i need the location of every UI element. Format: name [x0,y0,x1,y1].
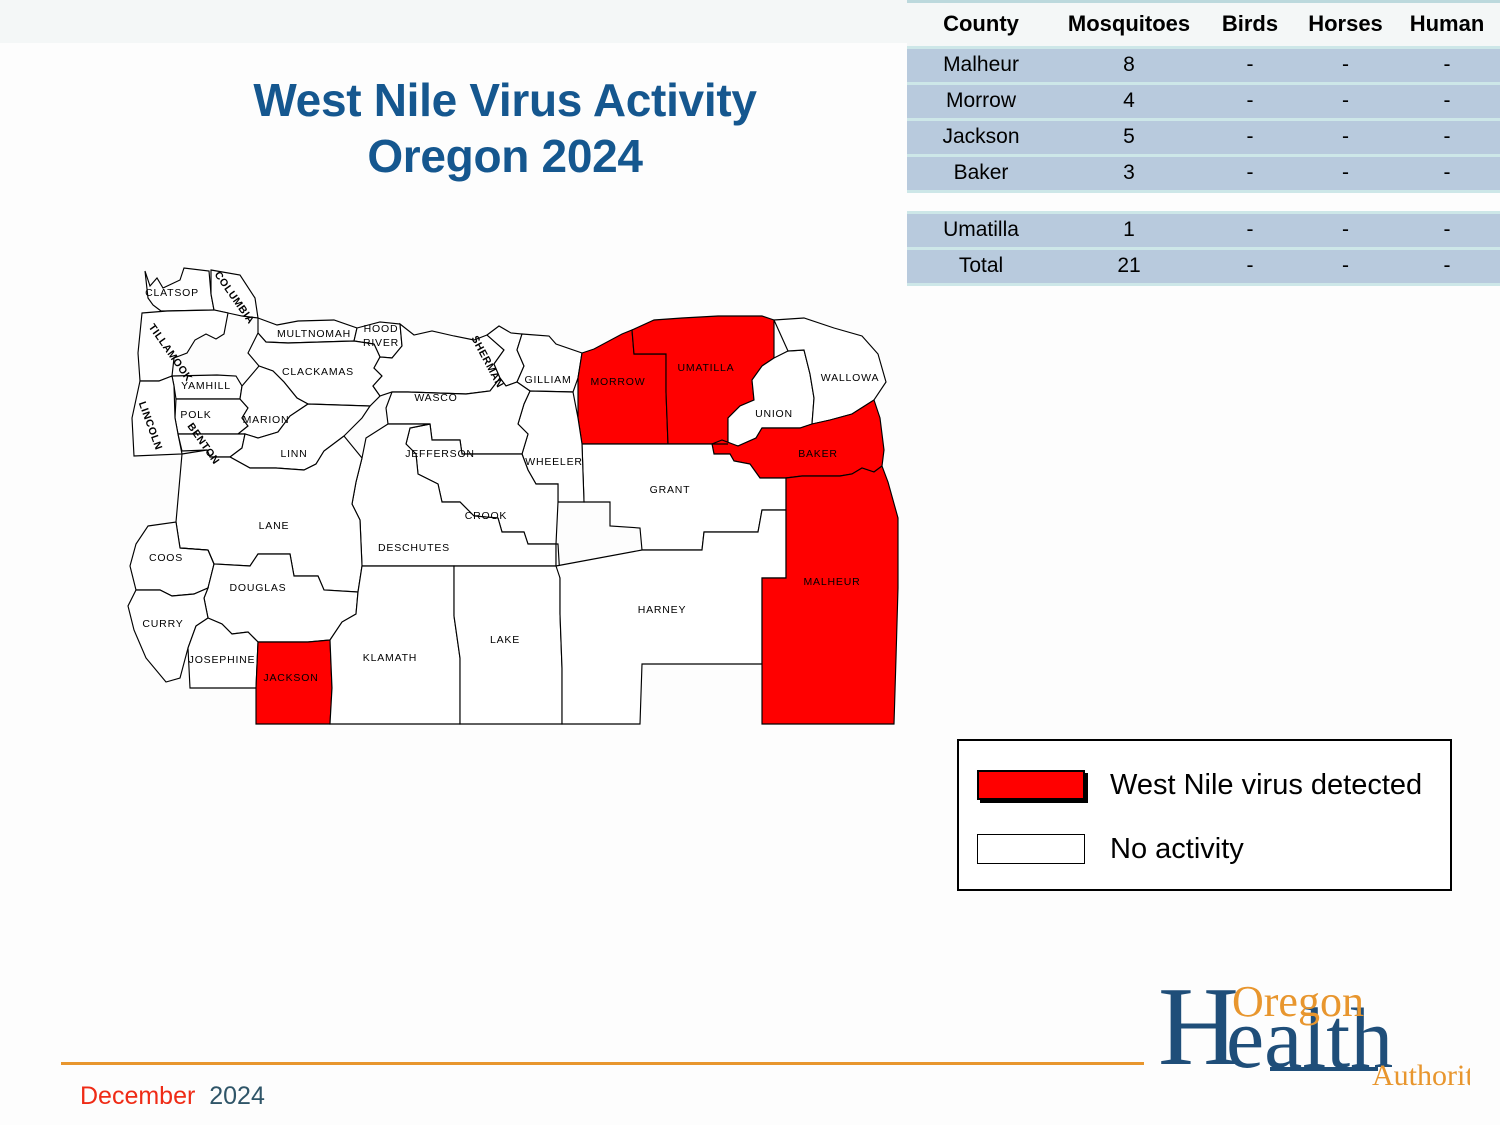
logo-text-authority: Authority [1372,1059,1470,1090]
county-label-klamath: KLAMATH [363,652,417,664]
county-label-gilliam: GILLIAM [524,374,571,386]
cell-birds: - [1203,120,1297,156]
county-label-clackamas: CLACKAMAS [282,366,354,378]
county-label-hood-river-2: RIVER [363,337,399,349]
county-label-harney: HARNEY [638,604,687,616]
table-total-row: Total 21 - - - [907,249,1500,285]
page-title: West Nile Virus Activity Oregon 2024 [150,72,860,184]
cell-human: - [1394,249,1500,285]
logo-underline [1270,1067,1378,1071]
county-label-lake: LAKE [490,634,520,646]
table-row: Umatilla 1 - - - [907,213,1500,249]
county-label-malheur: MALHEUR [804,576,861,588]
cell-mosquitoes: 1 [1055,213,1203,249]
oregon-health-authority-logo: H ealth Oregon Authority [1160,968,1470,1090]
cell-horses: - [1297,84,1394,120]
legend-row-detected: West Nile virus detected [959,761,1450,809]
cell-mosquitoes: 8 [1055,48,1203,84]
county-label-douglas: DOUGLAS [230,582,287,594]
county-label-lane: LANE [259,520,290,532]
legend-swatch-detected [977,770,1085,800]
cell-mosquitoes: 5 [1055,120,1203,156]
cell-birds: - [1203,213,1297,249]
page-title-line-2: Oregon 2024 [150,128,860,184]
county-label-multnomah: MULTNOMAH [277,328,351,340]
county-label-umatilla: UMATILLA [678,362,735,374]
cell-county: Malheur [907,48,1055,84]
table-row: Morrow 4 - - - [907,84,1500,120]
table-row: Jackson 5 - - - [907,120,1500,156]
col-header-county: County [907,2,1055,48]
cell-horses: - [1297,156,1394,192]
cell-horses: - [1297,48,1394,84]
table-header: County Mosquitoes Birds Horses Human [907,2,1500,48]
cell-human: - [1394,156,1500,192]
footer-rule [61,1062,1144,1065]
county-label-clatsop: CLATSOP [145,287,199,299]
oregon-county-map: CLATSOP COLUMBIA TILLAMOOK MULTNOMAH HOO… [62,258,942,948]
logo-text-oregon: Oregon [1232,977,1364,1026]
county-label-hood-river-1: HOOD [364,323,399,335]
county-label-josephine: JOSEPHINE [189,654,256,666]
county-label-wallowa: WALLOWA [821,372,880,384]
county-label-wasco: WASCO [414,392,457,404]
footer-month: December [80,1082,195,1110]
cell-mosquitoes: 21 [1055,249,1203,285]
cell-county: Baker [907,156,1055,192]
table-spacer [907,192,1500,213]
col-header-horses: Horses [1297,2,1394,48]
cell-horses: - [1297,213,1394,249]
cell-human: - [1394,84,1500,120]
cell-human: - [1394,120,1500,156]
cell-birds: - [1203,249,1297,285]
county-label-baker: BAKER [798,448,838,460]
cell-mosquitoes: 3 [1055,156,1203,192]
legend-label-detected: West Nile virus detected [1110,769,1422,802]
map-legend: West Nile virus detected No activity [957,739,1452,891]
cell-birds: - [1203,84,1297,120]
cell-human: - [1394,213,1500,249]
county-label-jefferson: JEFFERSON [405,448,475,460]
legend-row-no-activity: No activity [959,825,1450,873]
county-label-coos: COOS [149,552,183,564]
county-label-polk: POLK [180,409,211,421]
col-header-human: Human [1394,2,1500,48]
page-title-line-1: West Nile Virus Activity [150,72,860,128]
county-label-deschutes: DESCHUTES [378,542,450,554]
county-label-yamhill: YAMHILL [181,380,231,392]
cell-mosquitoes: 4 [1055,84,1203,120]
footer-date: December 2024 [80,1082,265,1111]
cell-birds: - [1203,48,1297,84]
county-label-morrow: MORROW [591,376,646,388]
cell-county: Jackson [907,120,1055,156]
county-label-wheeler: WHEELER [525,456,583,468]
county-label-marion: MARION [243,414,290,426]
cell-birds: - [1203,156,1297,192]
county-label-jackson: JACKSON [263,672,318,684]
table-header-row: County Mosquitoes Birds Horses Human [907,2,1500,48]
col-header-mosquitoes: Mosquitoes [1055,2,1203,48]
table-row: Malheur 8 - - - [907,48,1500,84]
county-label-grant: GRANT [650,484,691,496]
cell-county: Umatilla [907,213,1055,249]
table-body: Malheur 8 - - - Morrow 4 - - - Jackson 5… [907,48,1500,285]
county-label-linn: LINN [280,448,307,460]
cell-horses: - [1297,120,1394,156]
table-row: Baker 3 - - - [907,156,1500,192]
cell-human: - [1394,48,1500,84]
county-label-curry: CURRY [142,618,183,630]
county-label-union: UNION [755,408,793,420]
legend-swatch-no-activity [977,834,1085,864]
cell-county: Morrow [907,84,1055,120]
county-label-crook: CROOK [465,510,508,522]
legend-label-no-activity: No activity [1110,833,1244,866]
cell-horses: - [1297,249,1394,285]
footer-year: 2024 [209,1082,265,1110]
wnv-summary-table: County Mosquitoes Birds Horses Human Mal… [907,0,1500,286]
table-spacer-row [907,192,1500,213]
col-header-birds: Birds [1203,2,1297,48]
